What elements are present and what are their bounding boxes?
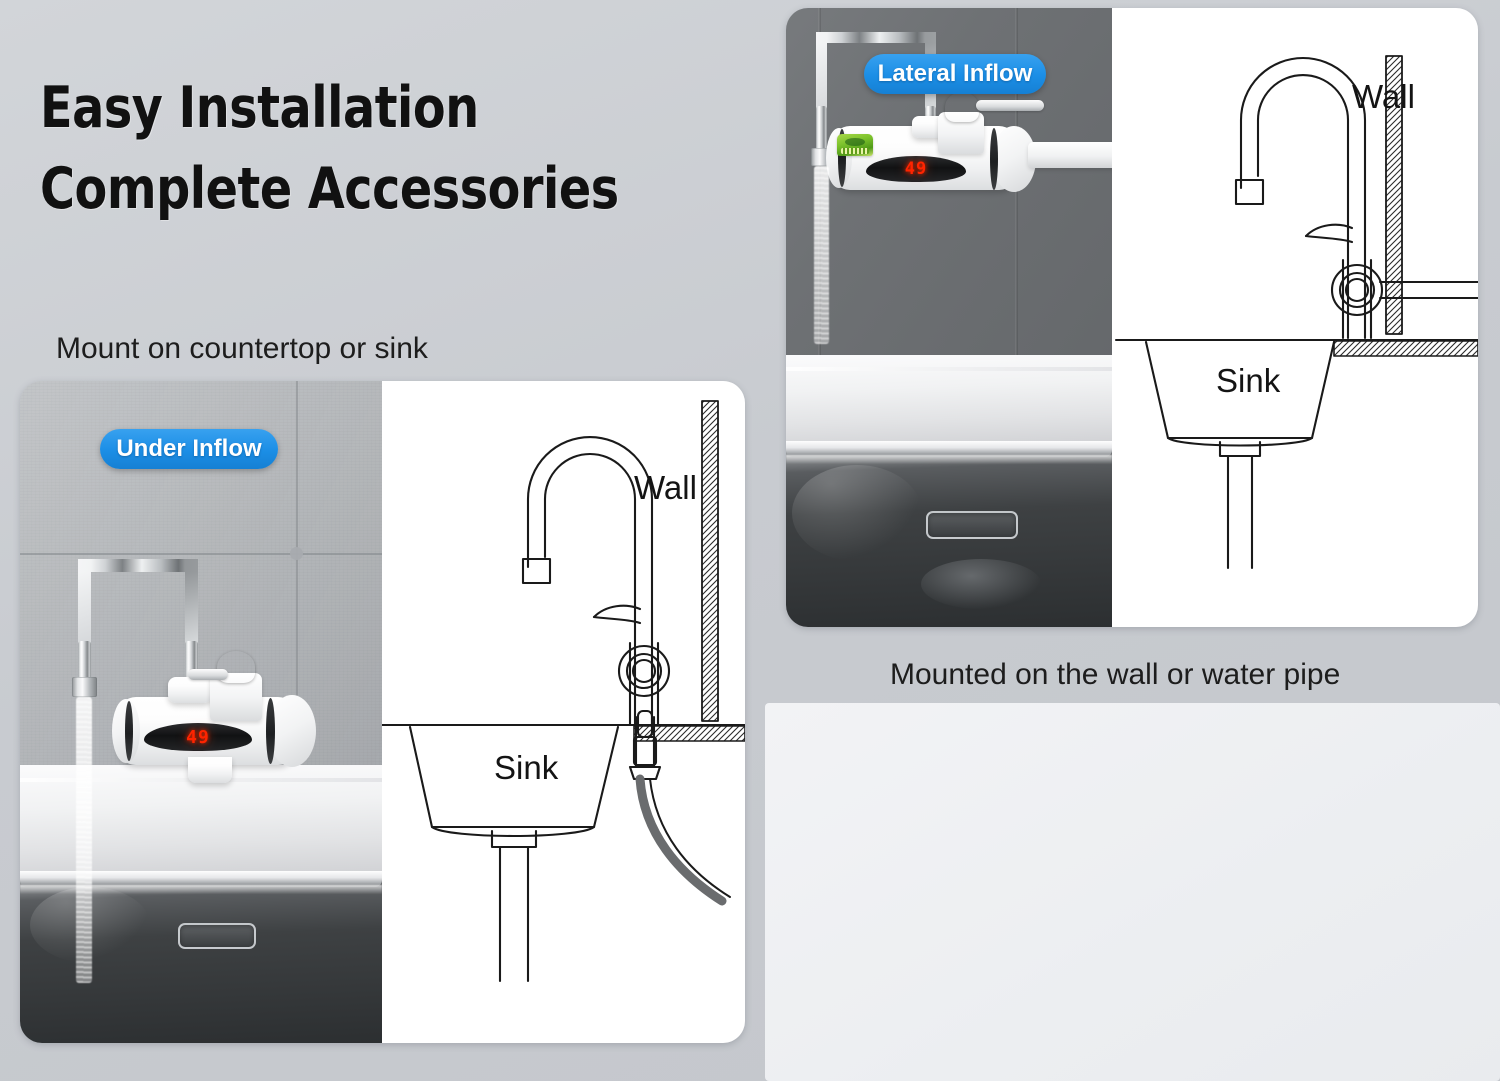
photo-lateral-inflow: 49: [786, 8, 1112, 627]
faucet-product-lateral: 49: [786, 8, 1112, 627]
panel-blank-area: [765, 703, 1500, 1081]
poster-root: Easy Installation Complete Accessories M…: [0, 0, 1500, 1081]
diagram-wall-label-lateral: Wall: [1352, 78, 1415, 116]
caption-mount-countertop: Mount on countertop or sink: [56, 332, 428, 366]
photo-under-inflow: 49 Under Inflow: [20, 381, 382, 1043]
valve-lever-under[interactable]: [188, 669, 228, 680]
valve-chrome-cap: [945, 92, 979, 122]
headline-line-1: Easy Installation: [40, 68, 710, 149]
spout-tip-under: [72, 677, 97, 697]
diagram-lateral-inflow: Wall Sink: [1112, 8, 1478, 627]
badge-lateral-inflow: Lateral Inflow: [864, 54, 1046, 94]
diagram-lateral-svg: [1112, 8, 1478, 627]
water-stream-under: [76, 697, 92, 983]
inlet-pipe: [1028, 142, 1112, 168]
temperature-display-under: 49: [144, 723, 252, 751]
faucet-product-under: 49: [20, 381, 382, 1043]
temperature-display: 49: [866, 156, 966, 182]
spout-arc-under: [78, 559, 198, 645]
diagram-sink-label-lateral: Sink: [1216, 362, 1280, 400]
panel-under-inflow: 49 Under Inflow: [20, 381, 745, 1043]
temperature-value-under: 49: [186, 727, 210, 748]
headline-line-2: Complete Accessories: [40, 149, 710, 230]
bottom-inlet: [188, 757, 232, 783]
certification-sticker: [837, 134, 873, 156]
water-stream: [814, 166, 829, 344]
diagram-sink-label-under: Sink: [494, 749, 558, 787]
page-title: Easy Installation Complete Accessories: [40, 68, 710, 230]
panel-lateral-inflow: 49: [786, 8, 1478, 627]
diagram-under-inflow: Wall Sink: [382, 381, 745, 1043]
caption-mount-wall: Mounted on the wall or water pipe: [890, 658, 1340, 692]
temperature-value: 49: [905, 159, 927, 179]
valve-lever[interactable]: [976, 100, 1044, 111]
diagram-wall-label-under: Wall: [634, 469, 697, 507]
badge-under-inflow: Under Inflow: [100, 429, 278, 469]
